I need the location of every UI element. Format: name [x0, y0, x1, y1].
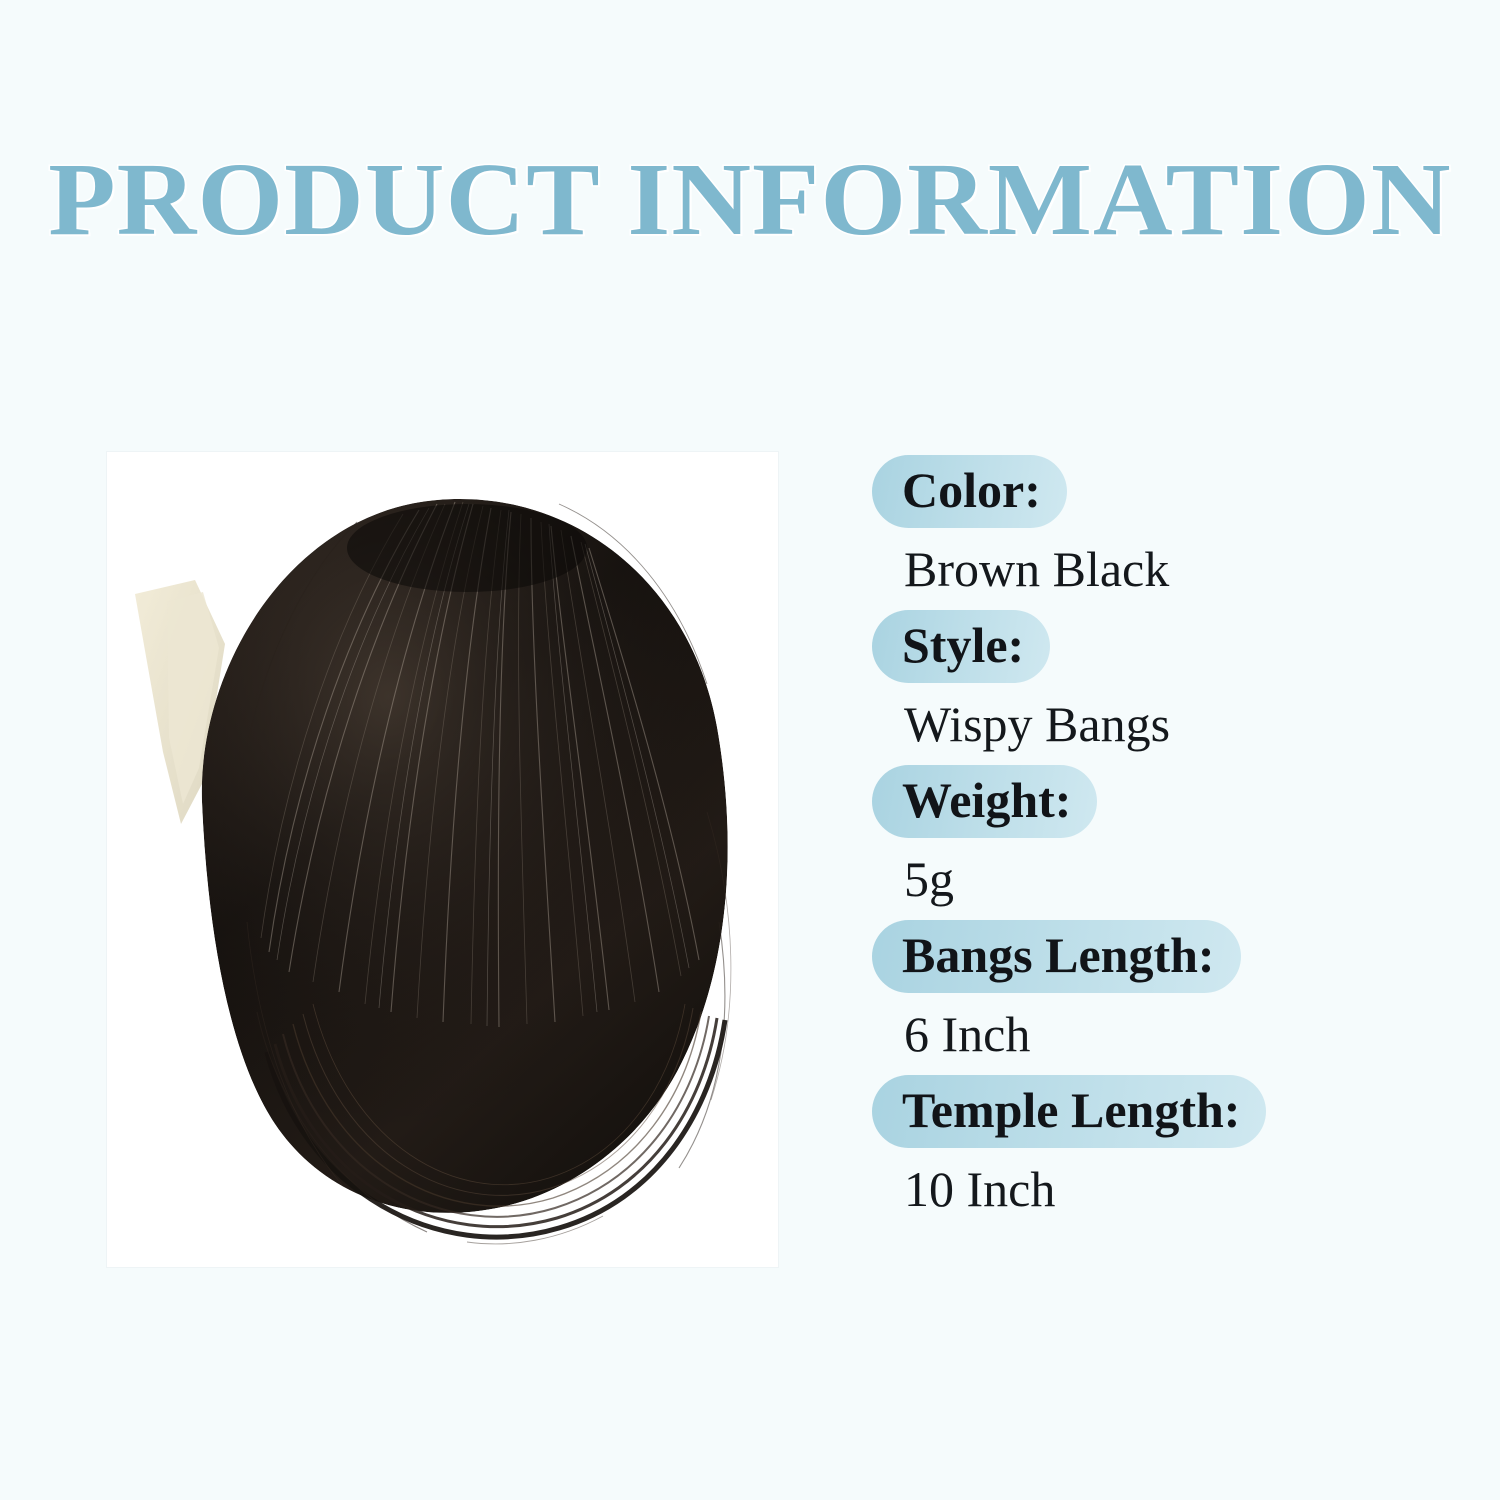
spec-label-bangs-length: Bangs Length:	[872, 920, 1241, 993]
spec-value-weight: 5g	[872, 838, 1432, 916]
product-information-page: { "header": { "title": "PRODUCT INFORMAT…	[0, 0, 1500, 1500]
spec-value-bangs-length: 6 Inch	[872, 993, 1432, 1071]
spec-value-style: Wispy Bangs	[872, 683, 1432, 761]
product-photo-hair-bangs	[107, 452, 778, 1267]
spec-row-weight: Weight: 5g	[872, 765, 1432, 916]
spec-row-style: Style: Wispy Bangs	[872, 610, 1432, 761]
spec-value-color: Brown Black	[872, 528, 1432, 606]
spec-label-style: Style:	[872, 610, 1050, 683]
page-header: PRODUCT INFORMATION	[0, 148, 1500, 252]
spec-label-weight: Weight:	[872, 765, 1097, 838]
product-photo-panel	[107, 452, 778, 1267]
page-title: PRODUCT INFORMATION	[48, 148, 1451, 252]
spec-row-temple-length: Temple Length: 10 Inch	[872, 1075, 1432, 1226]
spec-value-temple-length: 10 Inch	[872, 1148, 1432, 1226]
spec-row-color: Color: Brown Black	[872, 455, 1432, 606]
spec-row-bangs-length: Bangs Length: 6 Inch	[872, 920, 1432, 1071]
spec-list: Color: Brown Black Style: Wispy Bangs We…	[872, 455, 1432, 1230]
spec-label-color: Color:	[872, 455, 1067, 528]
spec-label-temple-length: Temple Length:	[872, 1075, 1266, 1148]
